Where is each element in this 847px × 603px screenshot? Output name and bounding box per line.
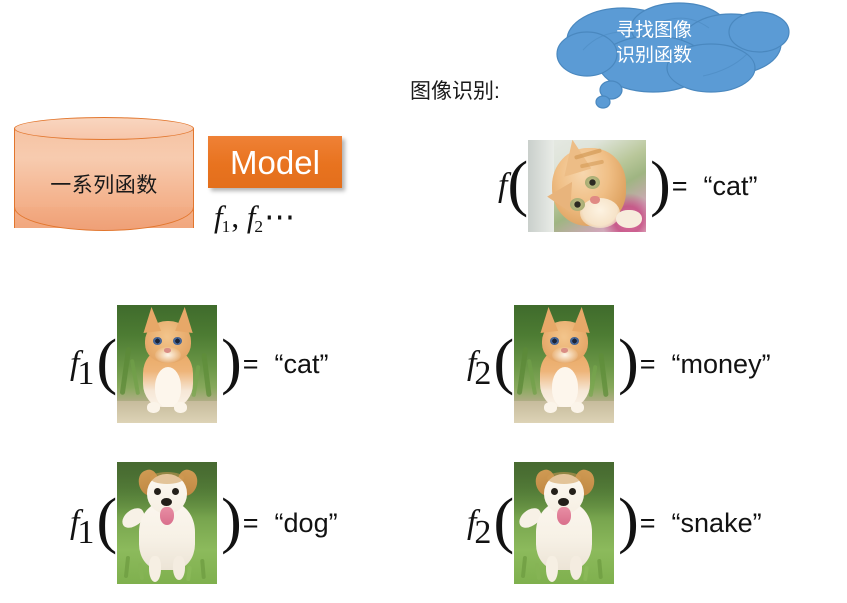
equation-close-paren: ) — [618, 340, 639, 385]
kitten-photo — [514, 305, 614, 423]
equation-open-paren: ( — [96, 499, 117, 544]
cloud-lobe — [729, 12, 789, 52]
equation-equals-sign: = — [243, 508, 259, 539]
function-ellipsis: ⋯ — [264, 199, 295, 234]
equation-close-paren: ) — [650, 162, 671, 207]
equation-headline: f ( ) = “cat” — [498, 140, 758, 232]
dog-photo — [117, 462, 217, 584]
equation-function-subscript: 2 — [474, 514, 491, 552]
cylinder-label: 一系列函数 — [14, 169, 194, 199]
equation-close-paren: ) — [221, 340, 242, 385]
model-functions-list: f1, f2⋯ — [214, 199, 295, 235]
equation-open-paren: ( — [493, 340, 514, 385]
equation-output-label: “money” — [672, 349, 771, 380]
equation-output-label: “cat” — [275, 349, 329, 380]
equation-equals-sign: = — [640, 349, 656, 380]
equation-equals-sign: = — [640, 508, 656, 539]
kitten-photo — [117, 305, 217, 423]
function-subscript-1: 1 — [222, 217, 231, 236]
equation-output-label: “cat” — [704, 171, 758, 202]
equation-function-subscript: 1 — [77, 514, 94, 552]
thought-bubble-line-1: 寻找图像 — [589, 18, 719, 43]
equation-f1-cat: f1 ( ) = “cat” — [70, 305, 329, 423]
thought-bubble: 寻找图像 识别函数 — [553, 2, 797, 112]
function-pool-cylinder: 一系列函数 — [14, 117, 196, 239]
model-box: Model — [208, 136, 342, 188]
equation-close-paren: ) — [618, 499, 639, 544]
thought-bubble-line-2: 识别函数 — [589, 43, 719, 68]
equation-equals-sign: = — [672, 171, 688, 202]
equation-open-paren: ( — [493, 499, 514, 544]
thought-bubble-text: 寻找图像 识别函数 — [589, 18, 719, 69]
equation-equals-sign: = — [243, 349, 259, 380]
cylinder-top-ellipse — [14, 117, 194, 140]
cloud-tail-bubble-small — [596, 96, 610, 108]
function-subscript-2: 2 — [254, 217, 263, 236]
slide-canvas: 一系列函数 Model f1, f2⋯ — [0, 0, 847, 603]
equation-close-paren: ) — [221, 499, 242, 544]
equation-f2-money: f2 ( ) = “money” — [467, 305, 771, 423]
equation-f1-dog: f1 ( ) = “dog” — [70, 462, 338, 584]
equation-open-paren: ( — [507, 162, 528, 207]
model-box-label: Model — [230, 146, 320, 179]
equation-open-paren: ( — [96, 340, 117, 385]
equation-output-label: “snake” — [672, 508, 762, 539]
equation-function-subscript: 2 — [474, 355, 491, 393]
dog-photo — [514, 462, 614, 584]
equation-output-label: “dog” — [275, 508, 338, 539]
section-label-image-recognition: 图像识别: — [410, 75, 500, 105]
equation-f2-snake: f2 ( ) = “snake” — [467, 462, 762, 584]
equation-function-symbol: f — [498, 167, 507, 205]
equation-function-subscript: 1 — [77, 355, 94, 393]
cat-closeup-photo — [528, 140, 646, 232]
function-comma: , — [231, 199, 239, 234]
